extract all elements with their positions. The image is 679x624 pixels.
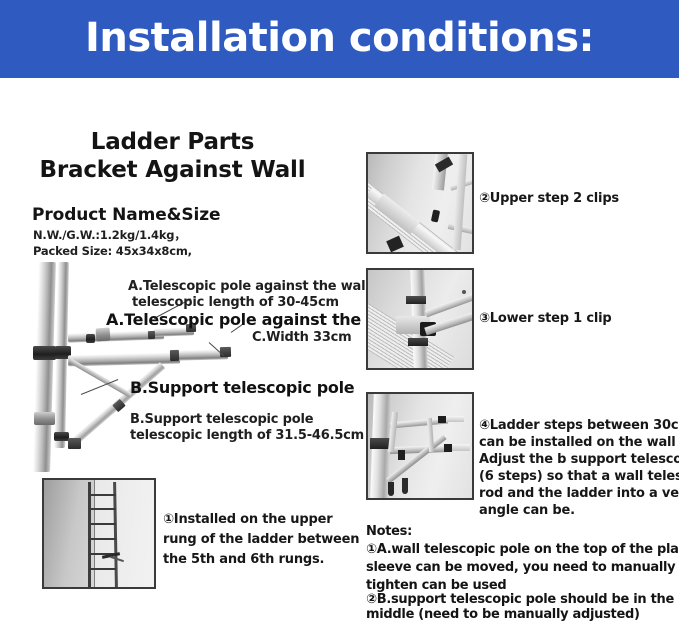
photo-wall-bracket-assembly <box>366 392 474 500</box>
photo-4-caption-line3: Adjust the b support telescopic rod <box>479 451 679 469</box>
photo-1-caption-line1: ①Installed on the upper <box>163 511 332 529</box>
annot-b-title: B.Support telescopic pole <box>130 378 354 397</box>
photo-4-caption-line1: ④Ladder steps between 30cm-50cm <box>479 417 679 435</box>
annot-b-small-line2: telescopic length of 31.5-46.5cm <box>130 428 364 444</box>
annot-b-small-line1: B.Support telescopic pole <box>130 412 313 428</box>
photo-2-caption: ②Upper step 2 clips <box>479 190 619 208</box>
annot-a-title: A.Telescopic pole against the wall <box>106 310 402 329</box>
photo-lower-step-clip <box>366 268 474 370</box>
annot-a-small-line1: A.Telescopic pole against the wall <box>128 279 370 295</box>
annot-c-width: C.Width 33cm <box>252 330 352 346</box>
page-header: Installation conditions: <box>0 0 679 78</box>
notes-title: Notes: <box>366 523 412 541</box>
photo-4-caption-line5: rod and the ladder into a vertical <box>479 485 679 503</box>
photo-3-caption: ③Lower step 1 clip <box>479 310 611 328</box>
photo-1-caption-line3: the 5th and 6th rungs. <box>163 551 324 569</box>
notes-line-1: ①A.wall telescopic pole on the top of th… <box>366 541 679 559</box>
product-heading-line2: Bracket Against Wall <box>0 156 345 184</box>
page-title: Installation conditions: <box>0 12 679 64</box>
annot-a-small-line2: telescopic length of 30-45cm <box>132 295 339 311</box>
photo-4-caption-line4: (6 steps) so that a wall telescopic <box>479 468 679 486</box>
spec-packed-size: Packed Size: 45x34x8cm, <box>33 244 192 259</box>
photo-4-caption-line6: angle can be. <box>479 502 575 520</box>
product-name-size-title: Product Name&Size <box>32 205 220 225</box>
notes-line-2: sleeve can be moved, you need to manuall… <box>366 559 675 577</box>
product-heading-line1: Ladder Parts <box>0 128 345 156</box>
photo-ladder-against-wall <box>42 478 156 589</box>
photo-4-caption-line2: can be installed on the wall bracket. <box>479 434 679 452</box>
spec-weight: N.W./G.W.:1.2kg/1.4kg， <box>33 228 186 243</box>
page-root: Installation conditions: Ladder Parts Br… <box>0 0 679 619</box>
notes-line-5: middle (need to be manually adjusted) <box>366 606 640 624</box>
photo-1-caption-line2: rung of the ladder between <box>163 531 359 549</box>
photo-upper-step-clips <box>366 152 474 254</box>
